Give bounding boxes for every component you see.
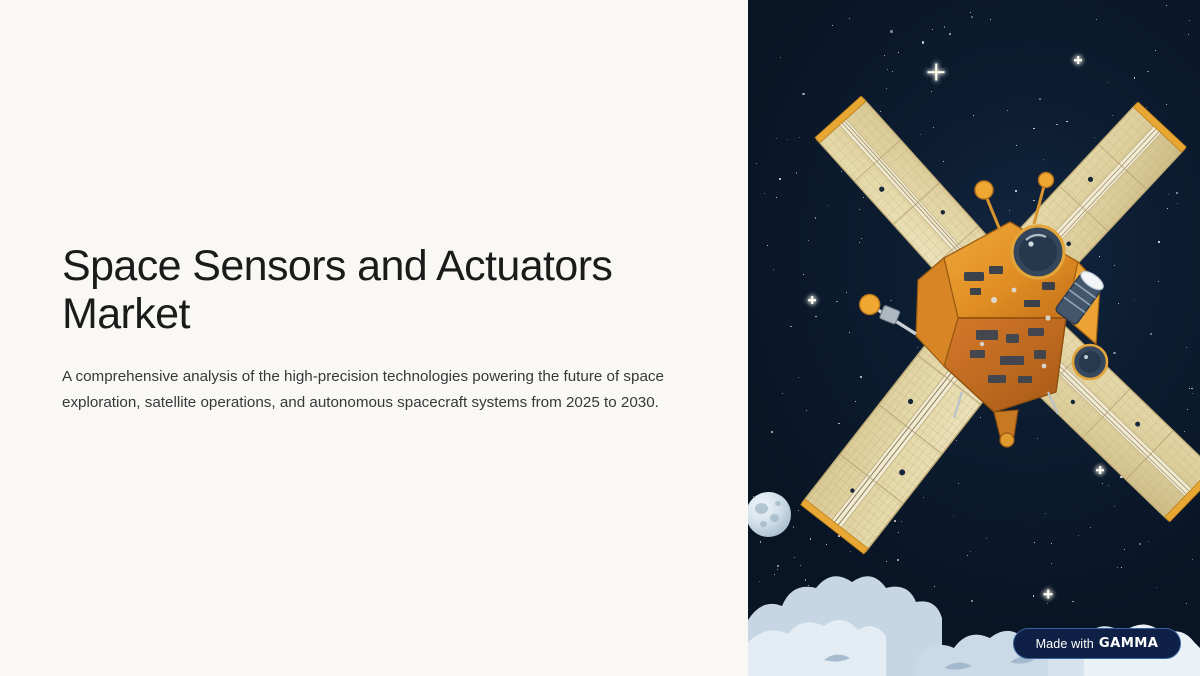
- starfield-background: [748, 0, 1200, 676]
- satellite-illustration-pane: [748, 0, 1200, 676]
- made-with-gamma-badge[interactable]: Made with GAMMA: [1013, 628, 1181, 659]
- text-pane: Space Sensors and Actuators Market A com…: [0, 0, 748, 676]
- page-subtitle: A comprehensive analysis of the high-pre…: [62, 364, 674, 416]
- moon-icon: [748, 492, 791, 537]
- text-block: Space Sensors and Actuators Market A com…: [0, 242, 748, 417]
- badge-prefix-label: Made with: [1036, 637, 1094, 651]
- page-title: Space Sensors and Actuators Market: [62, 242, 662, 338]
- title-slide: Space Sensors and Actuators Market A com…: [0, 0, 1200, 676]
- badge-brand-label: GAMMA: [1099, 636, 1158, 651]
